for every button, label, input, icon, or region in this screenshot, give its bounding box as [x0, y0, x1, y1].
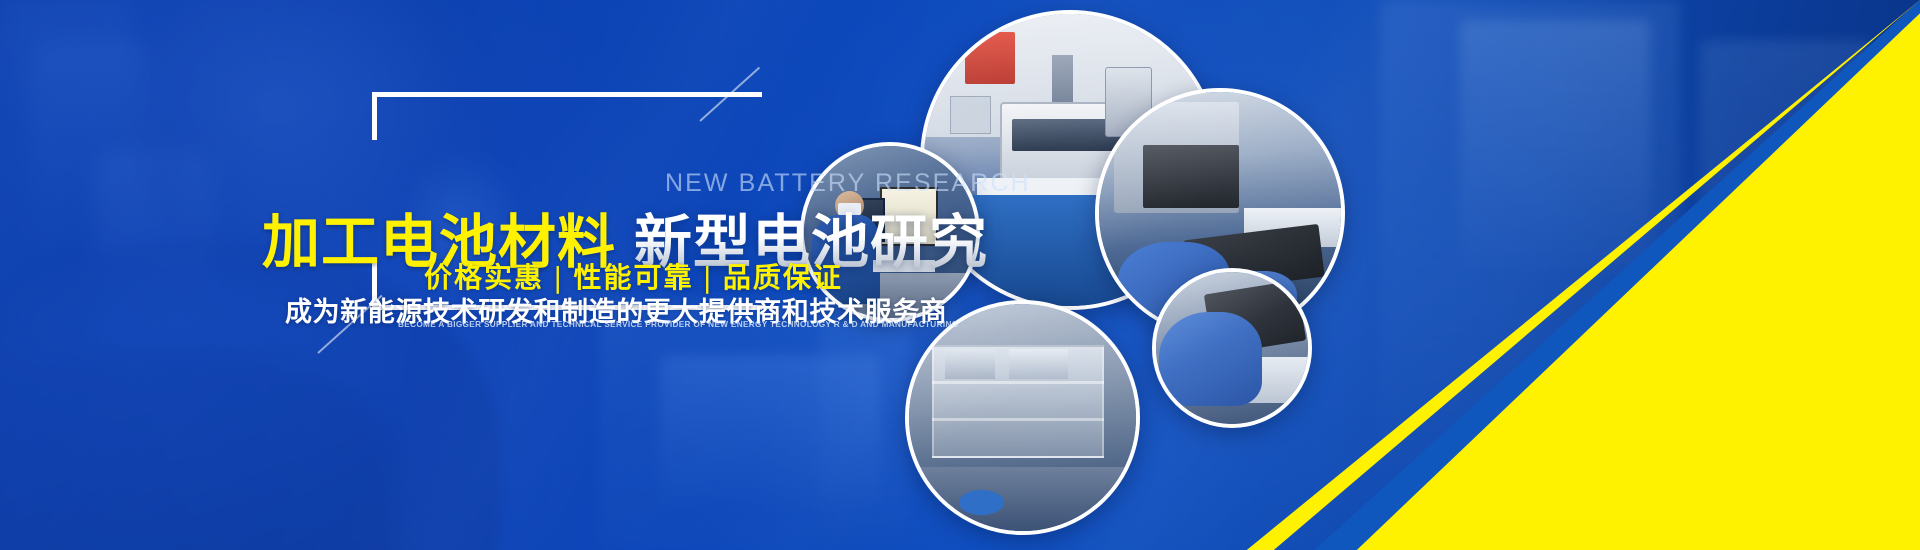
- banner-micro-english: BECOME A BIGGER SUPPLIER AND TECHNICAL S…: [398, 320, 958, 329]
- hero-banner: NEW BATTERY RESEARCH 加工电池材料新型电池研究 价格实惠|性…: [0, 0, 1920, 550]
- banner-text-block: NEW BATTERY RESEARCH 加工电池材料新型电池研究 价格实惠|性…: [0, 0, 1920, 550]
- banner-eyebrow: NEW BATTERY RESEARCH: [665, 169, 1031, 198]
